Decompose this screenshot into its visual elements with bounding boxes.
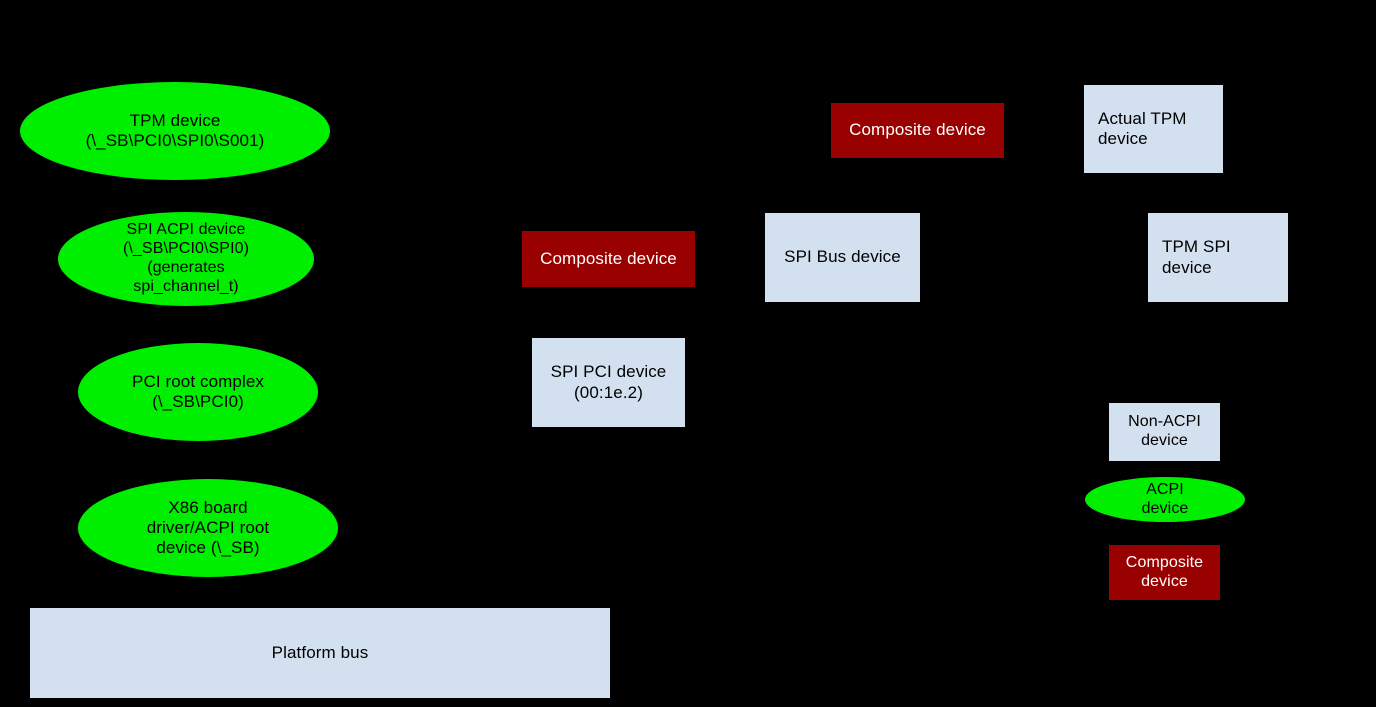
node-composite-device-tpm[interactable]: Composite device [831,103,1004,158]
node-platform-bus[interactable]: Platform bus [30,608,610,698]
legend-acpi-device: ACPI device [1085,477,1245,522]
node-actual-tpm-device[interactable]: Actual TPM device [1084,85,1223,173]
diagram-canvas: TPM device (\_SB\PCI0\SPI0\S001) SPI ACP… [0,0,1376,707]
node-pci-root-complex[interactable]: PCI root complex (\_SB\PCI0) [78,343,318,441]
legend-non-acpi-device: Non-ACPI device [1109,403,1220,461]
legend-composite-device: Composite device [1109,545,1220,600]
node-tpm-spi-device[interactable]: TPM SPI device [1148,213,1288,302]
node-composite-device-spi[interactable]: Composite device [522,231,695,287]
node-spi-bus-device[interactable]: SPI Bus device [765,213,920,302]
node-tpm-acpi-device[interactable]: TPM device (\_SB\PCI0\SPI0\S001) [20,82,330,180]
node-x86-board-driver[interactable]: X86 board driver/ACPI root device (\_SB) [78,479,338,577]
node-spi-acpi-device[interactable]: SPI ACPI device (\_SB\PCI0\SPI0) (genera… [58,212,314,306]
node-spi-pci-device[interactable]: SPI PCI device (00:1e.2) [532,338,685,427]
